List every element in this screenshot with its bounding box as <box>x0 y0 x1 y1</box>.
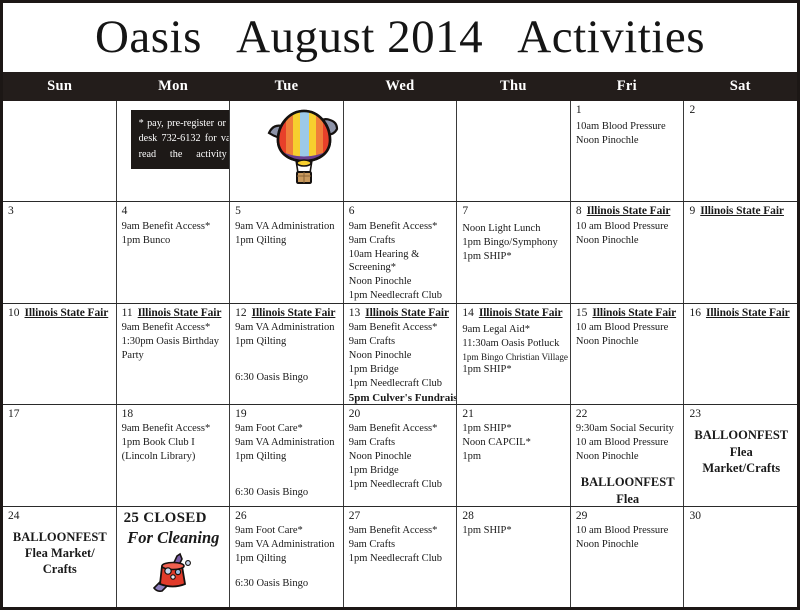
event-item: 1pm SHIP* <box>462 250 566 264</box>
flea-market-subtitle: Flea Market/Crafts <box>576 491 680 506</box>
state-fair-banner: Illinois State Fair <box>587 307 676 319</box>
calendar: Oasis August 2014 Activities Sun Mon Tue… <box>0 0 800 610</box>
day-number-line: 4 <box>122 205 226 218</box>
event-item: 9am Foot Care* <box>235 524 339 538</box>
calendar-week-row: 17189am Benefit Access*1pm Book Club I(L… <box>3 404 797 505</box>
event-item: 1pm SHIP* <box>462 363 566 377</box>
calendar-day-14[interactable]: 14Illinois State Fair9am Legal Aid*11:30… <box>456 304 570 404</box>
event-item: Noon Pinochle <box>349 349 453 363</box>
state-fair-banner: Illinois State Fair <box>133 307 222 319</box>
weekday-header-wed: Wed <box>343 72 456 101</box>
event-item: 9am VA Administration <box>235 321 339 335</box>
day-number-line: 14Illinois State Fair <box>462 307 566 320</box>
day-number-line: 2 <box>689 104 793 117</box>
event-item: Noon Pinochle <box>349 450 453 464</box>
closed-heading: 25 CLOSED <box>122 510 226 527</box>
calendar-day-20[interactable]: 209am Benefit Access*9am CraftsNoon Pino… <box>343 405 457 505</box>
state-fair-banner: Illinois State Fair <box>20 307 109 319</box>
event-list: 9am Benefit Access*9am Crafts1pm Needlec… <box>349 524 453 566</box>
event-item: 1pm Bunco <box>122 234 226 248</box>
calendar-day-9[interactable]: 9Illinois State Fair <box>683 202 797 302</box>
weekday-header-row: Sun Mon Tue Wed Thu Fri Sat <box>0 72 800 101</box>
event-item: 1pm Bridge <box>349 464 453 478</box>
calendar-day-empty[interactable] <box>229 101 343 201</box>
event-item: Noon Pinochle <box>576 450 680 464</box>
event-item: 9am Foot Care* <box>235 422 339 436</box>
event-item: 1pm Qilting <box>235 234 339 248</box>
day-number: 7 <box>462 205 468 217</box>
day-number: 29 <box>576 510 588 522</box>
cleaning-graphic <box>144 550 202 592</box>
calendar-day-empty[interactable] <box>343 101 457 201</box>
day-number: 24 <box>8 510 20 522</box>
event-item: 1pm Bingo/Symphony <box>462 236 566 250</box>
page-title: Oasis August 2014 Activities <box>95 14 705 61</box>
event-list: 9am VA Administration1pm Qilting <box>235 220 339 248</box>
event-item: 6:30 Oasis Bingo <box>235 371 339 385</box>
event-item: 9am Legal Aid* <box>462 323 566 337</box>
event-item: 10 am Blood Pressure <box>576 524 680 538</box>
day-number: 6 <box>349 205 355 217</box>
event-item: 9am VA Administration <box>235 538 339 552</box>
event-item: Noon Pinochle <box>576 335 680 349</box>
balloonfest-title: BALLOONFEST <box>689 427 793 443</box>
hot-air-balloon-icon <box>267 103 341 189</box>
day-number: 21 <box>462 408 474 420</box>
event-item: 1pm <box>462 450 566 464</box>
flea-market-line-1: Flea Market/ <box>8 545 112 561</box>
weekday-header-fri: Fri <box>570 72 683 101</box>
event-item: 9am Crafts <box>349 234 453 248</box>
balloonfest-block: BALLOONFESTFlea Market/Crafts <box>576 474 680 505</box>
event-item: 10am Hearing & <box>349 248 453 262</box>
calendar-week-row: 10Illinois State Fair11Illinois State Fa… <box>3 303 797 404</box>
day-number-line: 28 <box>462 510 566 523</box>
event-item: Noon Pinochle <box>576 538 680 552</box>
event-item: 1pm Needlecraft Club <box>349 552 453 566</box>
event-item: 10am Blood Pressure <box>576 120 680 134</box>
event-item: 9am Benefit Access* <box>349 524 453 538</box>
calendar-day-1[interactable]: 110am Blood PressureNoon Pinochle <box>570 101 684 201</box>
calendar-day-2[interactable]: 2 <box>683 101 797 201</box>
calendar-day-4[interactable]: 49am Benefit Access*1pm Bunco <box>116 202 230 302</box>
day-number: 19 <box>235 408 247 420</box>
calendar-day-3[interactable]: 3 <box>3 202 116 302</box>
day-number-line: 17 <box>8 408 112 421</box>
day-number-line: 15Illinois State Fair <box>576 307 680 320</box>
event-list: 9am VA Administration1pm Qilting6:30 Oas… <box>235 321 339 385</box>
event-list: 10 am Blood PressureNoon Pinochle <box>576 321 680 349</box>
day-number-line: 19 <box>235 408 339 421</box>
day-number-line: 10Illinois State Fair <box>8 307 112 320</box>
day-number-line: 9Illinois State Fair <box>689 205 793 218</box>
day-number-line: 24 <box>8 510 112 523</box>
calendar-day-7[interactable]: 7Noon Light Lunch1pm Bingo/Symphony1pm S… <box>456 202 570 302</box>
calendar-day-16[interactable]: 16Illinois State Fair <box>683 304 797 404</box>
calendar-day-24[interactable]: 24BALLOONFESTFlea Market/Crafts <box>3 507 116 607</box>
event-item: 9am Benefit Access* <box>122 321 226 335</box>
event-spacer <box>235 464 339 475</box>
event-spacer <box>235 349 339 360</box>
event-list: 1pm SHIP* <box>462 524 566 538</box>
weekday-header-sun: Sun <box>3 72 116 101</box>
calendar-day-17[interactable]: 17 <box>3 405 116 505</box>
event-list: 9am Foot Care*9am VA Administration1pm Q… <box>235 524 339 591</box>
calendar-day-21[interactable]: 211pm SHIP*Noon CAPCIL*1pm <box>456 405 570 505</box>
balloonfest-block: BALLOONFESTFlea Market/Crafts <box>689 427 793 476</box>
event-item: 1:30pm Oasis Birthday <box>122 335 226 349</box>
event-list: 9am Legal Aid*11:30am Oasis Potluck1pm B… <box>462 323 566 377</box>
event-item: 9am VA Administration <box>235 220 339 234</box>
calendar-day-empty[interactable]: * pay, pre-register or make an appointme… <box>116 101 230 201</box>
day-number-line: 23 <box>689 408 793 421</box>
event-item: Noon Pinochle <box>576 134 680 148</box>
state-fair-banner: Illinois State Fair <box>582 205 671 217</box>
calendar-day-11[interactable]: 11Illinois State Fair9am Benefit Access*… <box>116 304 230 404</box>
calendar-day-empty[interactable]: 25 CLOSEDFor Cleaning <box>116 507 230 607</box>
calendar-day-28[interactable]: 281pm SHIP* <box>456 507 570 607</box>
event-item: 9am Benefit Access* <box>349 422 453 436</box>
event-item: 1pm Needlecraft Club <box>349 289 453 302</box>
weekday-header-sat: Sat <box>684 72 797 101</box>
event-item: 1pm Needlecraft Club <box>349 377 453 391</box>
day-number-line: 27 <box>349 510 453 523</box>
event-spacer <box>235 475 339 486</box>
closed-subheading: For Cleaning <box>122 528 226 548</box>
calendar-day-29[interactable]: 2910 am Blood PressureNoon Pinochle <box>570 507 684 607</box>
event-list: 10 am Blood PressureNoon Pinochle <box>576 220 680 248</box>
event-list: 10am Blood PressureNoon Pinochle <box>576 120 680 148</box>
event-item: 9am Benefit Access* <box>122 422 226 436</box>
day-number: 16 <box>689 307 701 319</box>
calendar-day-22[interactable]: 229:30am Social Security10 am Blood Pres… <box>570 405 684 505</box>
event-list: 9am Benefit Access*9am Crafts10am Hearin… <box>349 220 453 303</box>
day-number: 14 <box>462 307 474 319</box>
day-number-line: 12Illinois State Fair <box>235 307 339 320</box>
state-fair-banner: Illinois State Fair <box>695 205 784 217</box>
day-number: 5 <box>235 205 241 217</box>
day-number-line: 21 <box>462 408 566 421</box>
flea-market-line-2: Crafts <box>8 561 112 577</box>
event-list: 10 am Blood PressureNoon Pinochle <box>576 524 680 552</box>
day-number: 22 <box>576 408 588 420</box>
day-number-line: 26 <box>235 510 339 523</box>
cleaning-bucket-icon <box>144 550 202 592</box>
day-number-line: 8Illinois State Fair <box>576 205 680 218</box>
calendar-day-12[interactable]: 12Illinois State Fair9am VA Administrati… <box>229 304 343 404</box>
event-list: 9am Benefit Access*1:30pm Oasis Birthday… <box>122 321 226 363</box>
day-number: 1 <box>576 104 582 116</box>
calendar-day-27[interactable]: 279am Benefit Access*9am Crafts1pm Needl… <box>343 507 457 607</box>
flea-market-subtitle: Flea Market/Crafts <box>689 444 793 477</box>
calendar-day-empty[interactable] <box>456 101 570 201</box>
event-spacer <box>235 360 339 371</box>
event-item: 9am Benefit Access* <box>122 220 226 234</box>
calendar-week-row: * pay, pre-register or make an appointme… <box>3 101 797 201</box>
day-number: 18 <box>122 408 134 420</box>
day-number-line: 13Illinois State Fair <box>349 307 453 320</box>
state-fair-banner: Illinois State Fair <box>474 307 563 319</box>
day-number-line: 11Illinois State Fair <box>122 307 226 320</box>
calendar-day-empty[interactable] <box>3 101 116 201</box>
event-spacer <box>235 566 339 577</box>
event-item: 9am VA Administration <box>235 436 339 450</box>
event-item: 6:30 Oasis Bingo <box>235 486 339 500</box>
day-number-line: 30 <box>689 510 793 523</box>
day-number: 11 <box>122 307 133 319</box>
day-number-line: 18 <box>122 408 226 421</box>
day-number: 23 <box>689 408 701 420</box>
event-item: 6:30 Oasis Bingo <box>235 577 339 591</box>
state-fair-banner: Illinois State Fair <box>701 307 790 319</box>
day-number-line: 29 <box>576 510 680 523</box>
day-number: 20 <box>349 408 361 420</box>
weekday-header-thu: Thu <box>457 72 570 101</box>
day-number: 2 <box>689 104 695 116</box>
event-item: Noon Pinochle <box>349 275 453 289</box>
calendar-day-19[interactable]: 199am Foot Care*9am VA Administration1pm… <box>229 405 343 505</box>
day-number-line: 7 <box>462 205 566 218</box>
event-item: 10 am Blood Pressure <box>576 436 680 450</box>
event-item: 1pm SHIP* <box>462 524 566 538</box>
day-number: 26 <box>235 510 247 522</box>
day-number-line: 20 <box>349 408 453 421</box>
event-item: 9am Crafts <box>349 335 453 349</box>
day-number: 17 <box>8 408 20 420</box>
calendar-day-18[interactable]: 189am Benefit Access*1pm Book Club I(Lin… <box>116 405 230 505</box>
state-fair-banner: Illinois State Fair <box>360 307 449 319</box>
calendar-day-8[interactable]: 8Illinois State Fair10 am Blood Pressure… <box>570 202 684 302</box>
day-number-line: 5 <box>235 205 339 218</box>
calendar-day-5[interactable]: 59am VA Administration1pm Qilting <box>229 202 343 302</box>
event-list: 1pm SHIP*Noon CAPCIL*1pm <box>462 422 566 464</box>
event-item: 11:30am Oasis Potluck <box>462 337 566 351</box>
event-item: 1pm Bridge <box>349 363 453 377</box>
activity-notice-box: * pay, pre-register or make an appointme… <box>131 110 230 169</box>
state-fair-banner: Illinois State Fair <box>247 307 336 319</box>
day-number: 27 <box>349 510 361 522</box>
balloonfest-title: BALLOONFEST <box>576 474 680 490</box>
event-item: Noon Pinochle <box>576 234 680 248</box>
day-number-line: 16Illinois State Fair <box>689 307 793 320</box>
day-number: 3 <box>8 205 14 217</box>
calendar-day-26[interactable]: 269am Foot Care*9am VA Administration1pm… <box>229 507 343 607</box>
day-number: 12 <box>235 307 247 319</box>
event-list: 9am Benefit Access*9am CraftsNoon Pinoch… <box>349 422 453 492</box>
calendar-day-30[interactable]: 30 <box>683 507 797 607</box>
event-item: 1pm SHIP* <box>462 422 566 436</box>
event-item: Noon Light Lunch <box>462 222 566 236</box>
day-number-line: 22 <box>576 408 680 421</box>
day-number: 10 <box>8 307 20 319</box>
event-item: 1pm Qilting <box>235 335 339 349</box>
event-item: 9:30am Social Security <box>576 422 680 436</box>
day-number: 4 <box>122 205 128 217</box>
event-item: 9am Benefit Access* <box>349 321 453 335</box>
event-item: 1pm Qilting <box>235 552 339 566</box>
event-item-highlight: 5pm Culver's Fundraiser <box>349 391 453 404</box>
calendar-day-6[interactable]: 69am Benefit Access*9am Crafts10am Heari… <box>343 202 457 302</box>
day-number-line: 6 <box>349 205 453 218</box>
event-item: 9am Crafts <box>349 538 453 552</box>
event-item: 1pm Bingo Christian Village <box>462 351 566 363</box>
day-number: 8 <box>576 205 582 217</box>
weekday-header-tue: Tue <box>230 72 343 101</box>
event-item: Party <box>122 349 226 363</box>
balloon-graphic <box>267 103 341 189</box>
event-list: 9am Benefit Access*9am CraftsNoon Pinoch… <box>349 321 453 404</box>
event-item: 10 am Blood Pressure <box>576 220 680 234</box>
calendar-week-row: 349am Benefit Access*1pm Bunco59am VA Ad… <box>3 201 797 302</box>
calendar-day-10[interactable]: 10Illinois State Fair <box>3 304 116 404</box>
day-number-line: 3 <box>8 205 112 218</box>
day-number: 30 <box>689 510 701 522</box>
balloonfest-block: BALLOONFESTFlea Market/Crafts <box>8 529 112 578</box>
event-item: Screening* <box>349 261 453 275</box>
event-item: Noon CAPCIL* <box>462 436 566 450</box>
event-list: 9am Foot Care*9am VA Administration1pm Q… <box>235 422 339 500</box>
calendar-week-row: 24BALLOONFESTFlea Market/Crafts25 CLOSED… <box>3 506 797 607</box>
calendar-day-15[interactable]: 15Illinois State Fair10 am Blood Pressur… <box>570 304 684 404</box>
event-item: 1pm Qilting <box>235 450 339 464</box>
event-list: 9:30am Social Security10 am Blood Pressu… <box>576 422 680 464</box>
weekday-header-mon: Mon <box>116 72 229 101</box>
event-item: 9am Crafts <box>349 436 453 450</box>
event-list: 9am Benefit Access*1pm Bunco <box>122 220 226 248</box>
day-number: 13 <box>349 307 361 319</box>
event-list: 9am Benefit Access*1pm Book Club I(Linco… <box>122 422 226 464</box>
day-number: 15 <box>576 307 588 319</box>
event-item: 1pm Book Club I <box>122 436 226 450</box>
balloonfest-title: BALLOONFEST <box>8 529 112 545</box>
event-item: (Lincoln Library) <box>122 450 226 464</box>
day-number: 28 <box>462 510 474 522</box>
calendar-day-13[interactable]: 13Illinois State Fair9am Benefit Access*… <box>343 304 457 404</box>
event-item: 9am Benefit Access* <box>349 220 453 234</box>
calendar-grid: * pay, pre-register or make an appointme… <box>0 101 800 610</box>
event-item: 10 am Blood Pressure <box>576 321 680 335</box>
calendar-day-23[interactable]: 23BALLOONFESTFlea Market/Crafts <box>683 405 797 505</box>
calendar-title-bar: Oasis August 2014 Activities <box>0 0 800 72</box>
day-number-line: 1 <box>576 104 680 117</box>
event-list: Noon Light Lunch1pm Bingo/Symphony1pm SH… <box>462 222 566 264</box>
event-item: 1pm Needlecraft Club <box>349 478 453 492</box>
